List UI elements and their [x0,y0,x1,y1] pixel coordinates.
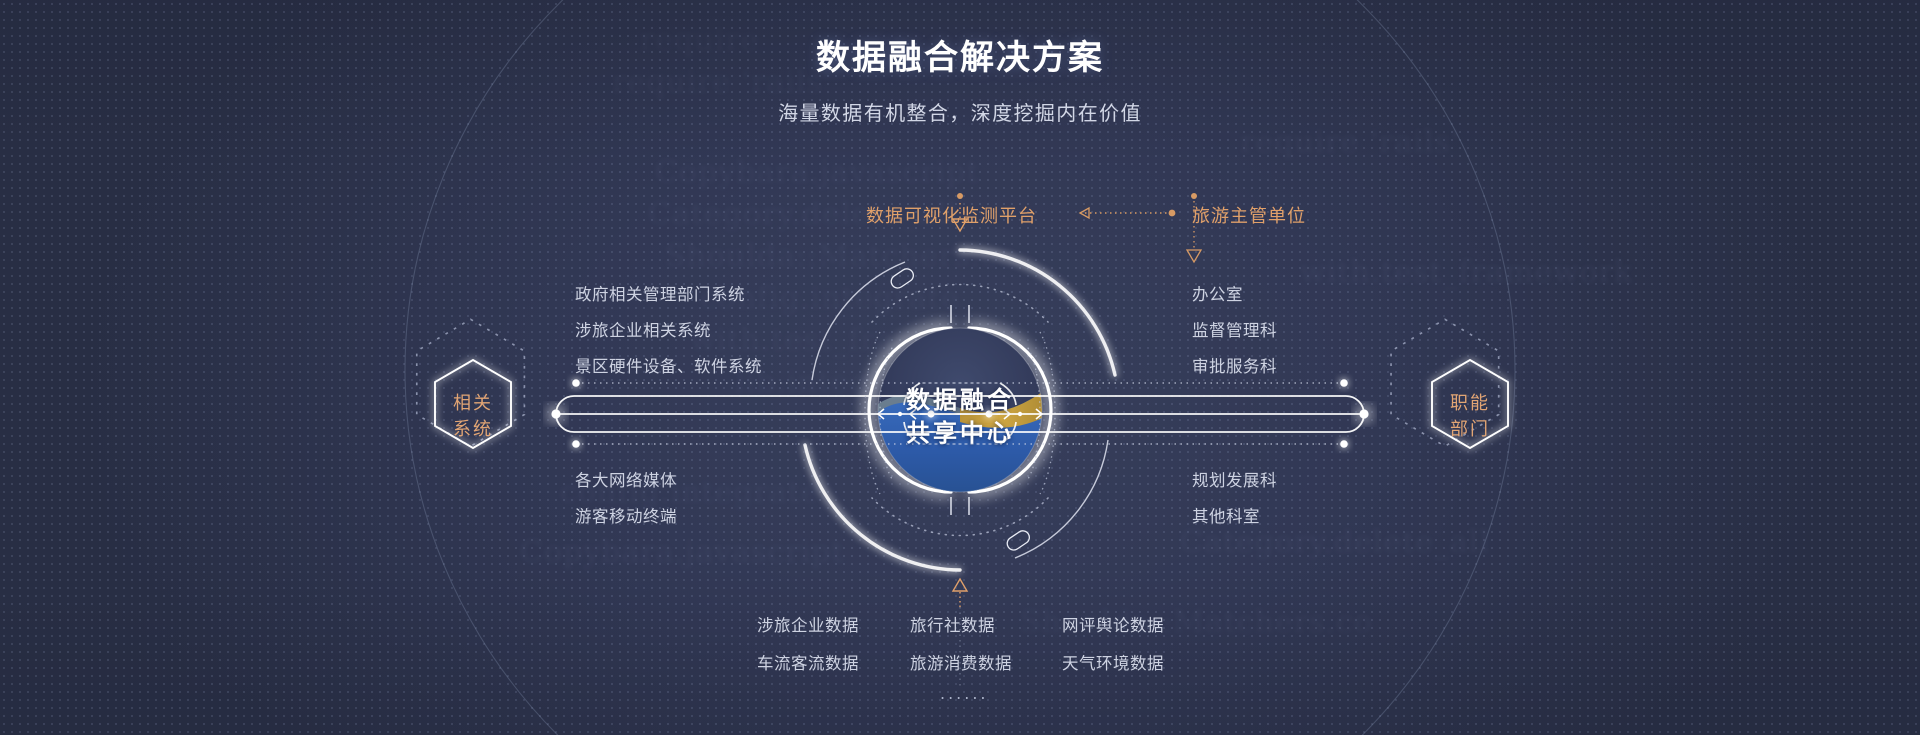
label-bottom-4[interactable]: 旅游消费数据 [910,650,1012,674]
label-right-upper-0[interactable]: 办公室 [1192,281,1243,305]
label-left-lower-0[interactable]: 各大网络媒体 [575,467,677,491]
core-label: 数据融合 共享中心 [850,384,1070,450]
hex-label-right[interactable]: 职能 部门 [1409,391,1531,443]
label-layer: 数据可视化监测平台 旅游主管单位 政府相关管理部门系统 涉旅企业相关系统 景区硬… [0,0,1920,735]
label-bottom-5[interactable]: 天气环境数据 [1062,650,1164,674]
label-right-lower-1[interactable]: 其他科室 [1192,503,1260,527]
label-bottom-2[interactable]: 网评舆论数据 [1062,612,1164,636]
hex-label-left[interactable]: 相关 系统 [412,391,534,443]
label-right-lower-0[interactable]: 规划发展科 [1192,467,1277,491]
label-left-lower-1[interactable]: 游客移动终端 [575,503,677,527]
label-right-upper-2[interactable]: 审批服务科 [1192,353,1277,377]
diagram-canvas: require require 'rails' Copybara.javascr… [0,0,1920,735]
label-left-upper-1[interactable]: 涉旅企业相关系统 [575,317,711,341]
label-visualization-platform[interactable]: 数据可视化监测平台 [866,202,1037,228]
label-bottom-0[interactable]: 涉旅企业数据 [757,612,859,636]
label-bottom-3[interactable]: 车流客流数据 [757,650,859,674]
label-left-upper-0[interactable]: 政府相关管理部门系统 [575,281,745,305]
label-right-upper-1[interactable]: 监督管理科 [1192,317,1277,341]
label-bottom-more: ...... [940,684,989,703]
label-bottom-1[interactable]: 旅行社数据 [910,612,995,636]
label-tourism-authority[interactable]: 旅游主管单位 [1192,202,1306,228]
label-left-upper-2[interactable]: 景区硬件设备、软件系统 [575,353,762,377]
